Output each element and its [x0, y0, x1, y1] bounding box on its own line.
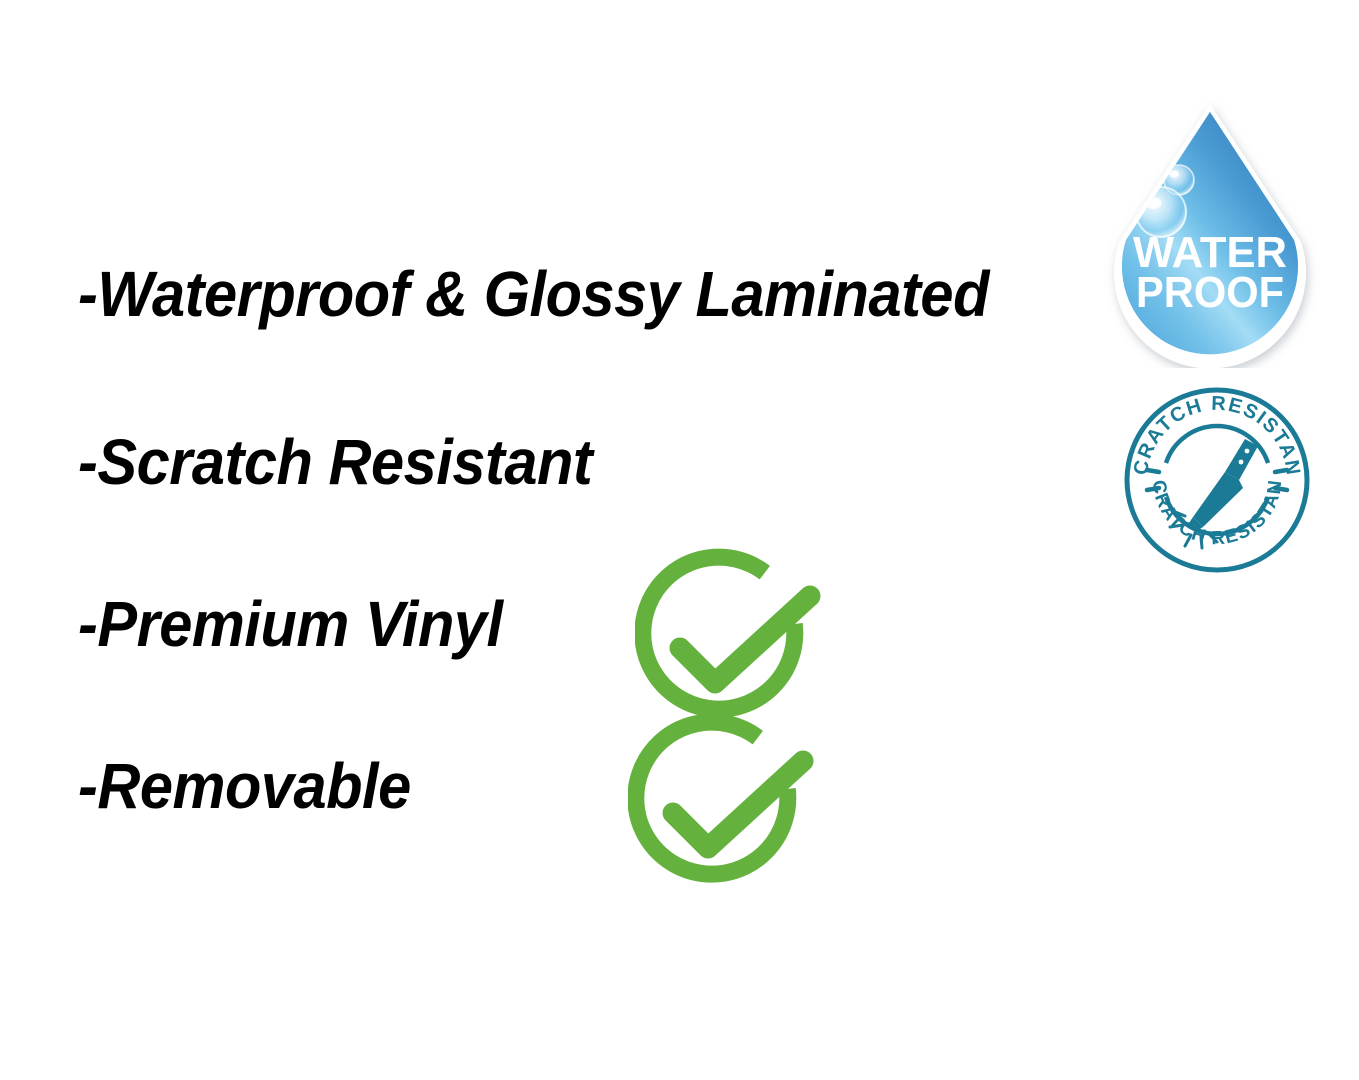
feature-item-premium-vinyl: -Premium Vinyl — [78, 592, 503, 656]
waterproof-label-line2: PROOF — [1136, 268, 1284, 317]
stamp-top-arc-text: SCRATCH RESISTANT — [1121, 384, 1304, 478]
check-circle-icon — [628, 710, 820, 902]
infographic-canvas: -Waterproof & Glossy Laminated -Scratch … — [0, 0, 1359, 1080]
feature-item-scratch-resistant: -Scratch Resistant — [78, 430, 592, 494]
scratch-resistant-badge: SCRATCH RESISTANT SCRATCH RESISTANT — [1121, 384, 1313, 576]
waterproof-badge: WATER PROOF — [1098, 100, 1322, 368]
check-circle-icon — [635, 545, 827, 737]
feature-item-waterproof: -Waterproof & Glossy Laminated — [78, 262, 989, 326]
feature-item-removable: -Removable — [78, 754, 411, 818]
